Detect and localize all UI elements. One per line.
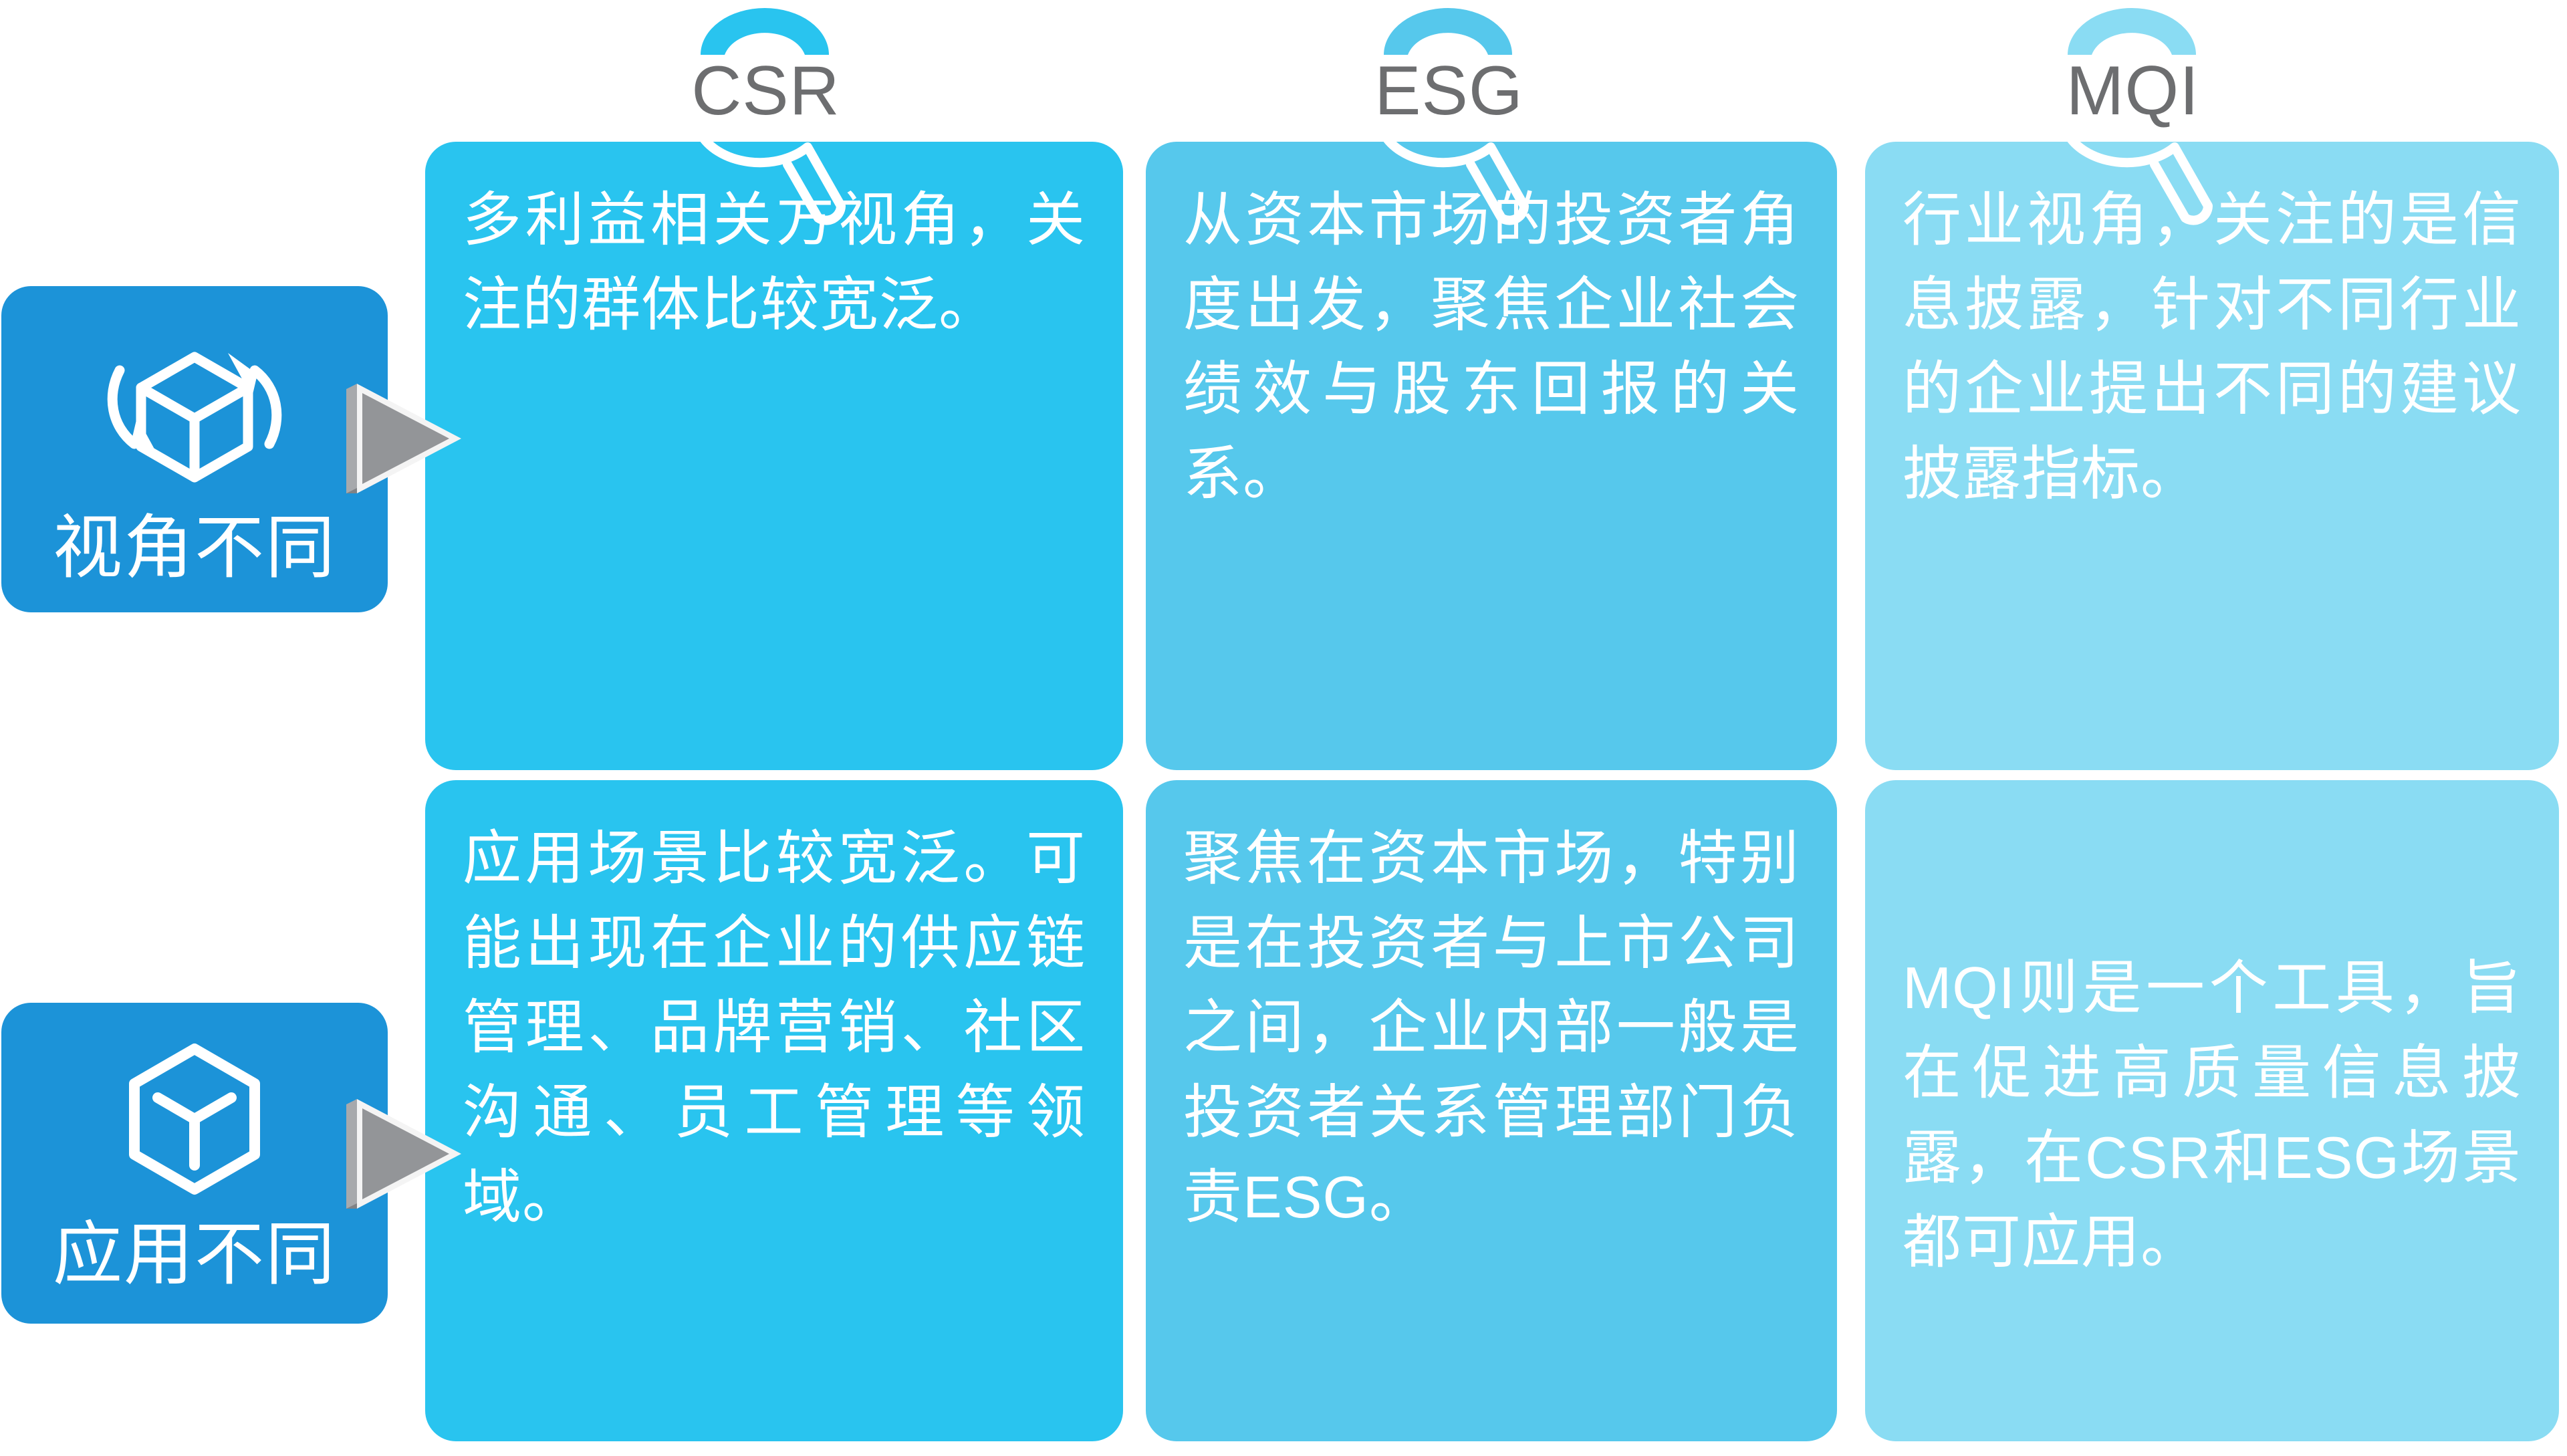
row-label-perspective-text: 视角不同: [53, 512, 336, 585]
card-mqi-application-text: MQI则是一个工具，旨在促进高质量信息披露，在CSR和ESG场景都可应用。: [1903, 946, 2522, 1285]
card-csr-perspective: 多利益相关方视角，关注的群体比较宽泛。: [425, 142, 1123, 770]
card-mqi-application-block: MQI则是一个工具，旨在促进高质量信息披露，在CSR和ESG场景都可应用。: [1903, 816, 2522, 1415]
card-mqi-application: MQI则是一个工具，旨在促进高质量信息披露，在CSR和ESG场景都可应用。: [1865, 780, 2559, 1441]
card-esg-application: 聚焦在资本市场，特别是在投资者与上市公司之间，企业内部一般是投资者关系管理部门负…: [1146, 780, 1837, 1441]
connector-arrow-perspective: [334, 381, 468, 501]
row-label-application-text: 应用不同: [53, 1219, 336, 1292]
card-csr-perspective-text: 多利益相关方视角，关注的群体比较宽泛。: [463, 178, 1086, 347]
card-esg-perspective-text: 从资本市场的投资者角度出发，聚焦企业社会绩效与股东回报的关系。: [1183, 178, 1800, 517]
card-esg-application-text: 聚焦在资本市场，特别是在投资者与上市公司之间，企业内部一般是投资者关系管理部门负…: [1183, 816, 1800, 1240]
magnifier-arc-top-icon: [681, 0, 854, 74]
hexagon-cube-icon: [104, 1034, 285, 1208]
card-mqi-perspective-text: 行业视角，关注的是信息披露，针对不同行业的企业提出不同的建议披露指标。: [1903, 178, 2522, 517]
comparison-infographic: 多利益相关方视角，关注的群体比较宽泛。 从资本市场的投资者角度出发，聚焦企业社会…: [0, 0, 2567, 1456]
column-header-csr-text: CSR: [681, 56, 851, 126]
column-header-mqi-text: MQI: [2048, 56, 2218, 126]
row-label-application[interactable]: 应用不同: [1, 1003, 388, 1324]
card-esg-perspective: 从资本市场的投资者角度出发，聚焦企业社会绩效与股东回报的关系。: [1146, 142, 1837, 770]
card-csr-application-text: 应用场景比较宽泛。可能出现在企业的供应链管理、品牌营销、社区沟通、员工管理等领域…: [463, 816, 1086, 1240]
magnifier-arc-top-icon: [1364, 0, 1538, 74]
card-mqi-perspective: 行业视角，关注的是信息披露，针对不同行业的企业提出不同的建议披露指标。: [1865, 142, 2559, 770]
column-header-esg-text: ESG: [1364, 56, 1534, 126]
rotating-cube-icon: [94, 313, 295, 500]
magnifier-arc-top-icon: [2048, 0, 2221, 74]
connector-arrow-application: [334, 1096, 468, 1217]
card-csr-application: 应用场景比较宽泛。可能出现在企业的供应链管理、品牌营销、社区沟通、员工管理等领域…: [425, 780, 1123, 1441]
row-label-perspective[interactable]: 视角不同: [1, 286, 388, 612]
